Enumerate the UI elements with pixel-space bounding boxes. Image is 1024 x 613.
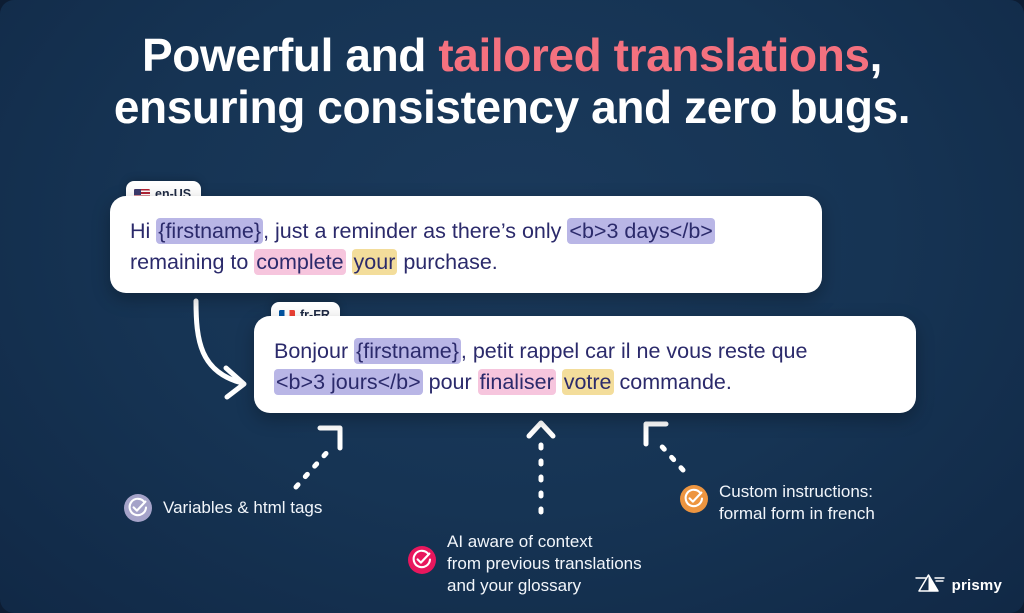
glossary-token-complete[interactable]: complete — [254, 249, 345, 275]
context-token-your[interactable]: your — [352, 249, 398, 275]
html-tag-token-days[interactable]: <b>3 days</b> — [567, 218, 714, 244]
brand-logo: prismy — [915, 572, 1002, 599]
check-circle-icon — [124, 494, 152, 522]
target-message-text: Bonjour {firstname}, petit rappel car il… — [274, 336, 807, 397]
variable-token-firstname-fr[interactable]: {firstname} — [354, 338, 461, 364]
variable-token-firstname[interactable]: {firstname} — [156, 218, 263, 244]
headline-accent: tailored translations — [438, 29, 869, 81]
pointer-context — [529, 423, 553, 512]
annotation-variables: Variables & html tags — [124, 494, 322, 522]
target-line-1: Bonjour {firstname}, petit rappel car il… — [274, 336, 807, 367]
headline-line-1: Powerful and tailored translations, — [0, 30, 1024, 82]
headline-text-pre: Powerful and — [142, 29, 438, 81]
source-message-text: Hi {firstname}, just a reminder as there… — [130, 216, 715, 277]
check-circle-icon — [408, 546, 436, 574]
target-line-2: <b>3 jours</b> pour finaliser votre comm… — [274, 367, 807, 398]
target-seg-1: Bonjour — [274, 339, 354, 363]
logo-wordmark: prismy — [952, 577, 1002, 594]
html-tag-token-jours[interactable]: <b>3 jours</b> — [274, 369, 423, 395]
source-to-target-arrow — [196, 301, 244, 397]
source-line-1: Hi {firstname}, just a reminder as there… — [130, 216, 715, 247]
check-circle-icon — [680, 485, 708, 513]
target-message-bubble[interactable]: Bonjour {firstname}, petit rappel car il… — [254, 316, 916, 413]
page-title: Powerful and tailored translations, ensu… — [0, 30, 1024, 134]
annotation-variables-label: Variables & html tags — [163, 494, 322, 519]
glossary-token-finaliser[interactable]: finaliser — [478, 369, 556, 395]
annotation-context-label: AI aware of context from previous transl… — [447, 528, 642, 596]
annotation-custom-label: Custom instructions: formal form in fren… — [719, 478, 875, 525]
slide-canvas: Powerful and tailored translations, ensu… — [0, 0, 1024, 613]
target-seg-2: , petit rappel car il ne vous reste que — [461, 339, 808, 363]
headline-line-2: ensuring consistency and zero bugs. — [0, 82, 1024, 134]
headline-text-post: , — [870, 29, 882, 81]
source-seg-3: remaining to — [130, 250, 254, 274]
source-seg-1: Hi — [130, 219, 156, 243]
source-seg-2: , just a reminder as there’s only — [263, 219, 567, 243]
target-seg-4: commande. — [614, 370, 732, 394]
pointer-variables — [296, 428, 340, 487]
source-line-2: remaining to complete your purchase. — [130, 247, 715, 278]
annotation-context: AI aware of context from previous transl… — [408, 528, 642, 596]
source-sep-1 — [346, 250, 352, 274]
source-message-bubble[interactable]: Hi {firstname}, just a reminder as there… — [110, 196, 822, 293]
source-seg-4: purchase. — [397, 250, 497, 274]
context-token-votre[interactable]: votre — [562, 369, 614, 395]
prism-logo-icon — [915, 572, 945, 599]
pointer-custom — [646, 424, 683, 470]
annotation-custom-instructions: Custom instructions: formal form in fren… — [680, 478, 875, 525]
target-seg-3: pour — [423, 370, 478, 394]
target-sep-1 — [556, 370, 562, 394]
